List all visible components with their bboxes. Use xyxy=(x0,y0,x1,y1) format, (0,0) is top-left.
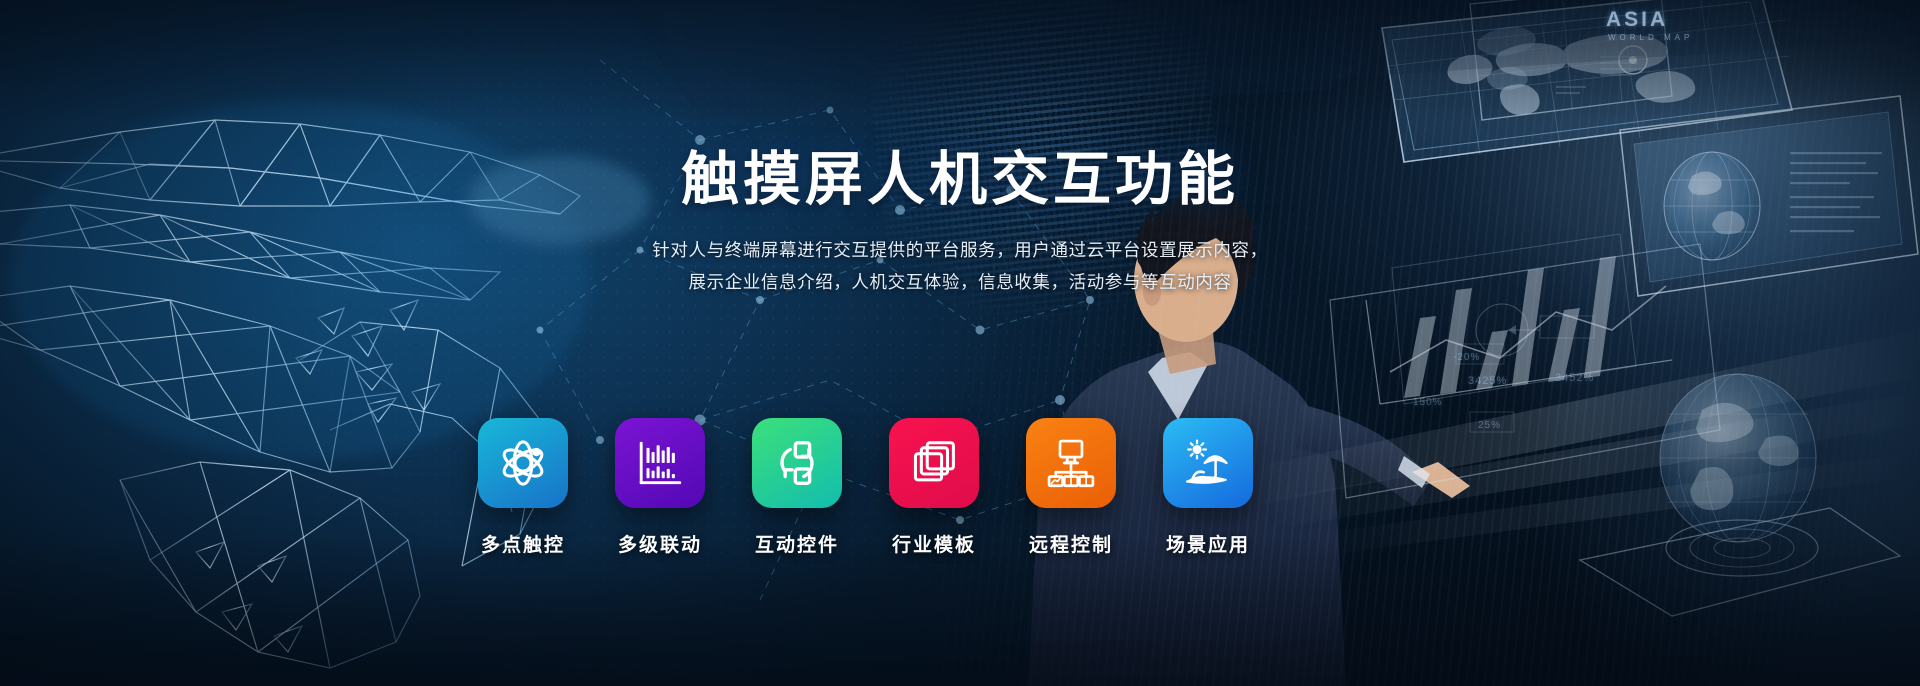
feature-tile[interactable] xyxy=(1026,418,1116,508)
banner-content: 触摸屏人机交互功能 针对人与终端屏幕进行交互提供的平台服务，用户通过云平台设置展… xyxy=(0,0,1920,686)
feature-tile[interactable] xyxy=(615,418,705,508)
feature-tile[interactable] xyxy=(478,418,568,508)
bar-chart-icon xyxy=(633,436,687,490)
feature-label: 互动控件 xyxy=(755,530,839,557)
feature-list: 多点触控 xyxy=(478,418,1253,557)
feature-item-multi-level-linkage[interactable]: 多级联动 xyxy=(615,418,705,557)
feature-label: 多点触控 xyxy=(481,530,565,557)
atom-icon xyxy=(496,436,550,490)
beach-scene-icon xyxy=(1181,436,1235,490)
sync-widget-icon xyxy=(770,436,824,490)
banner-headline: 触摸屏人机交互功能 xyxy=(0,150,1920,211)
feature-item-scene-application[interactable]: 场景应用 xyxy=(1163,418,1253,557)
feature-item-industry-template[interactable]: 行业模板 xyxy=(889,418,979,557)
promo-banner: ASIA WORLD MAP -20% 3425% 3452% 150% 25%… xyxy=(0,0,1920,686)
feature-tile[interactable] xyxy=(1163,418,1253,508)
feature-tile[interactable] xyxy=(752,418,842,508)
feature-item-interactive-widget[interactable]: 互动控件 xyxy=(752,418,842,557)
feature-tile[interactable] xyxy=(889,418,979,508)
monitor-network-icon xyxy=(1044,436,1098,490)
banner-subtitle-line-1: 针对人与终端屏幕进行交互提供的平台服务，用户通过云平台设置展示内容， xyxy=(0,237,1920,262)
feature-label: 行业模板 xyxy=(892,530,976,557)
banner-subtitle-line-2: 展示企业信息介绍，人机交互体验，信息收集，活动参与等互动内容 xyxy=(0,269,1920,294)
layers-icon xyxy=(907,436,961,490)
feature-label: 多级联动 xyxy=(618,530,702,557)
feature-label: 远程控制 xyxy=(1029,530,1113,557)
feature-label: 场景应用 xyxy=(1166,530,1250,557)
feature-item-remote-control[interactable]: 远程控制 xyxy=(1026,418,1116,557)
feature-item-multi-touch[interactable]: 多点触控 xyxy=(478,418,568,557)
